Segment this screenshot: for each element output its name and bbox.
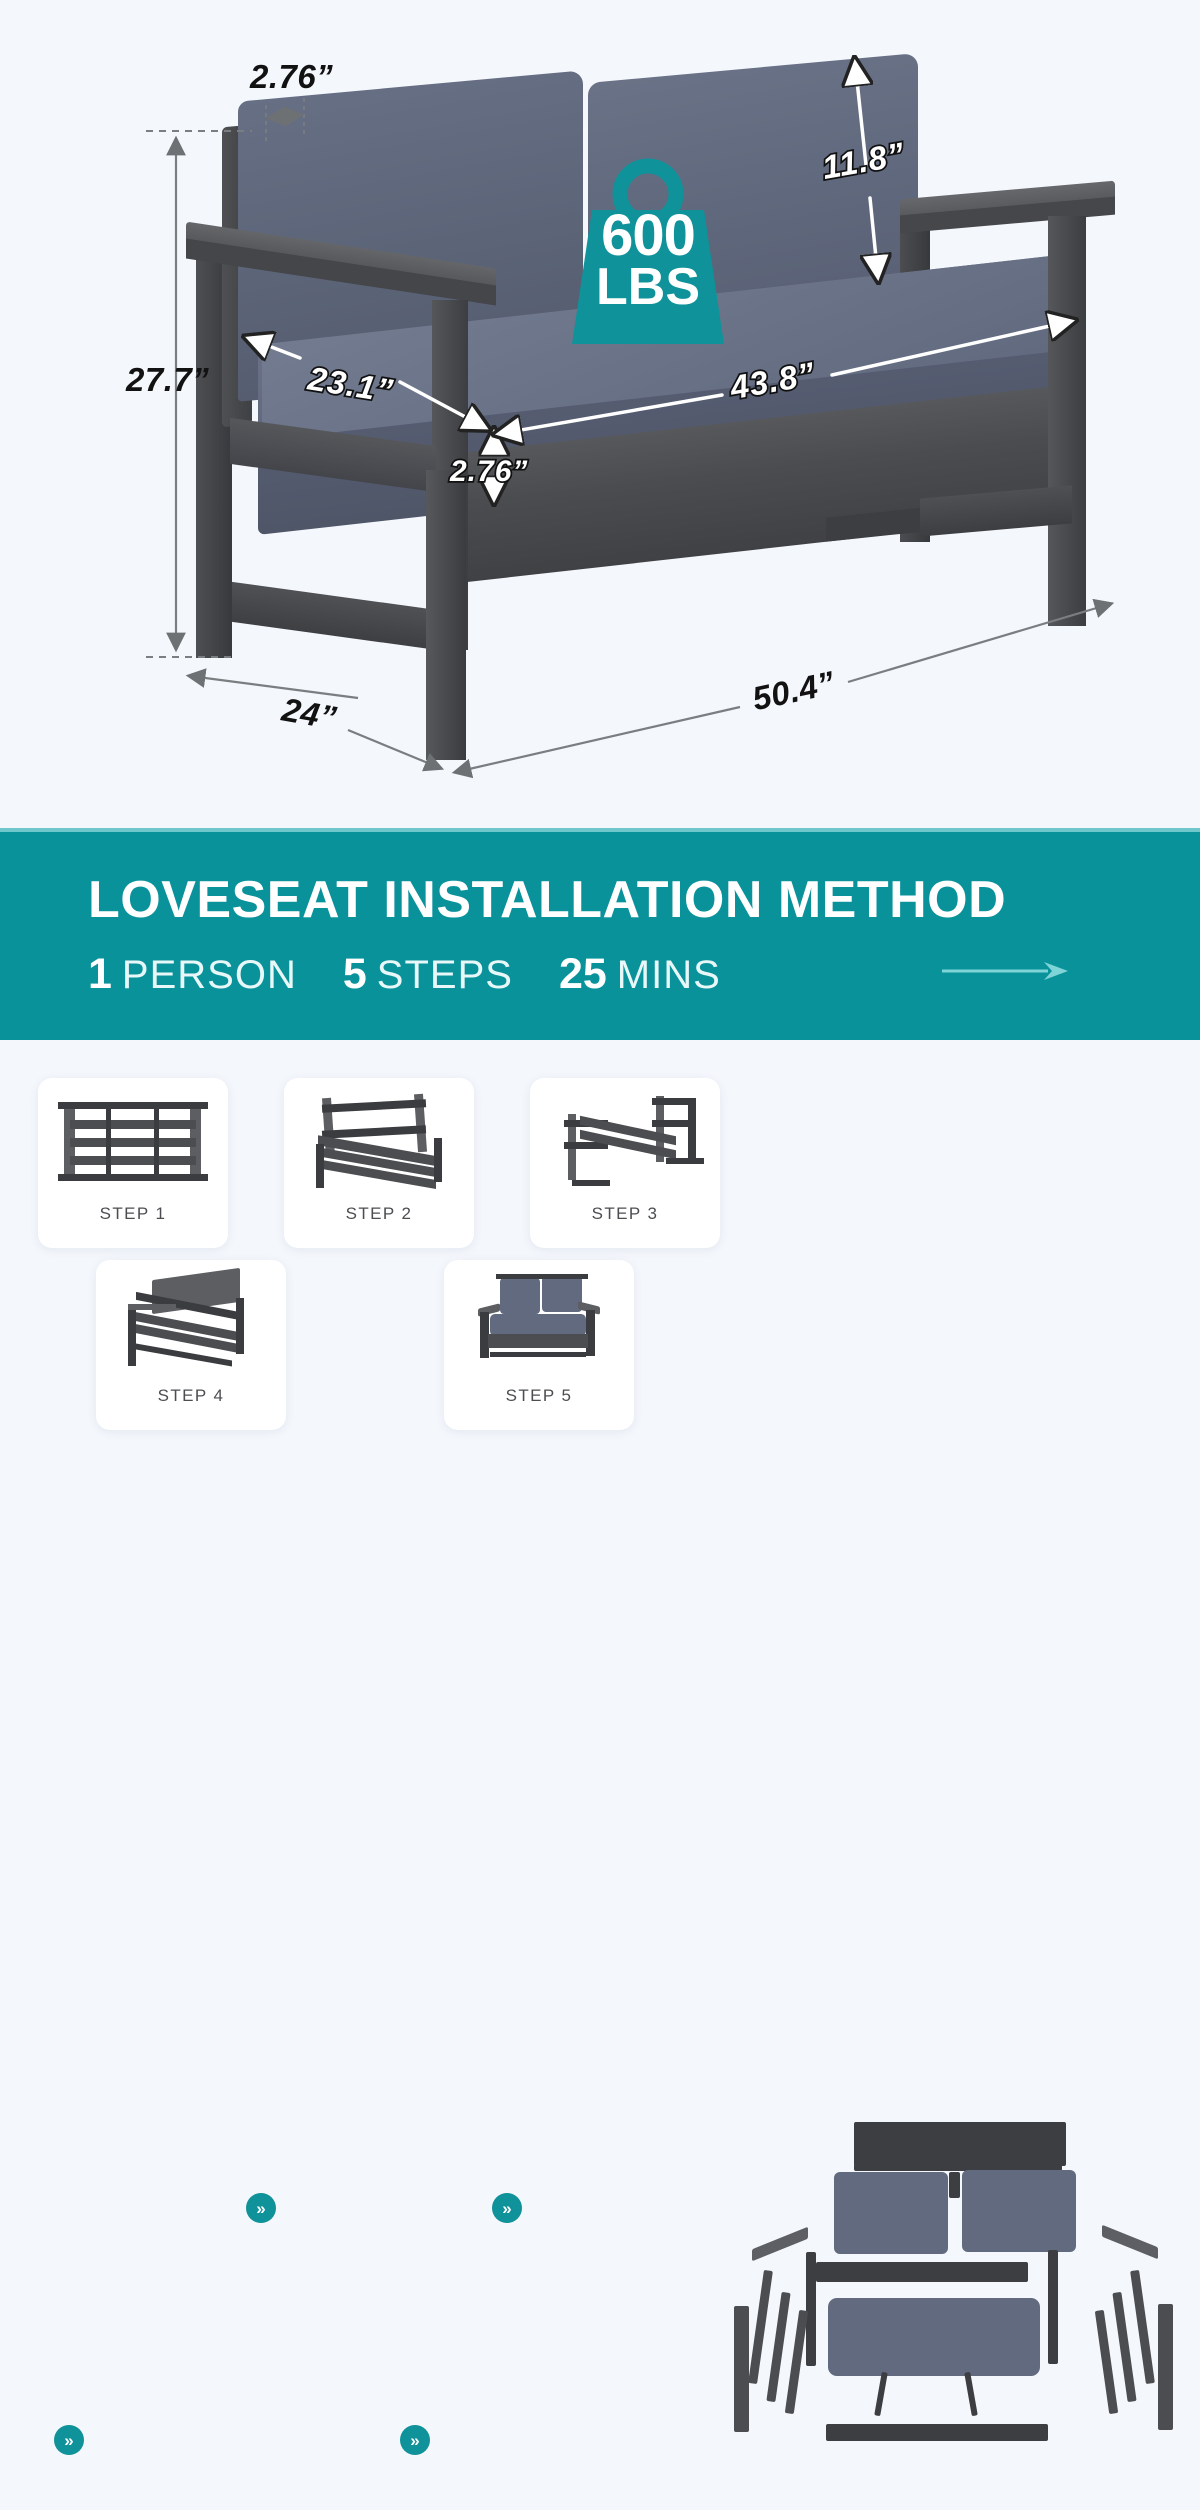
weight-badge-text: 600 LBS <box>548 208 748 312</box>
part-back-panel <box>854 2122 1066 2166</box>
sofa-left-bottom-rail <box>232 582 438 650</box>
part-rail-left-c <box>785 2310 808 2414</box>
step-3-label: STEP 3 <box>592 1204 659 1224</box>
part-bracket-left <box>874 2372 888 2416</box>
step-4-label: STEP 4 <box>158 1386 225 1406</box>
part-armrest-left <box>752 2227 808 2262</box>
double-chevron-right-icon: » <box>256 2200 265 2217</box>
installation-steps-section: STEP 1 » STEP 2 » <box>0 1040 1200 1500</box>
stat-person: 1 PERSON <box>88 950 297 999</box>
part-leg-back-right <box>1158 2304 1173 2430</box>
step-5-label: STEP 5 <box>506 1386 573 1406</box>
part-bottom-rail <box>826 2424 1048 2441</box>
step-connector-4-to-5: » <box>400 2425 430 2455</box>
part-rail-right-a <box>1130 2270 1155 2384</box>
dimension-label-seat-cushion-thickness: 2.76” <box>450 455 528 489</box>
step-2-label: STEP 2 <box>346 1204 413 1224</box>
stat-person-number: 1 <box>88 950 112 999</box>
part-rail-left-a <box>748 2270 773 2384</box>
stat-person-word: PERSON <box>122 953 297 998</box>
step-card-1[interactable]: STEP 1 <box>38 1078 228 1248</box>
part-seat-cushion <box>828 2298 1040 2376</box>
long-right-arrow-icon <box>940 956 1070 986</box>
dimension-diagram-section: 2.76” 27.7” 11.8” 23.1” 2.76” 43.8” 24” … <box>0 0 1200 828</box>
part-front-rail <box>816 2262 1028 2282</box>
weight-badge-unit: LBS <box>548 263 748 312</box>
step-card-5[interactable]: STEP 5 <box>444 1260 634 1430</box>
part-back-cushion-left <box>834 2172 948 2254</box>
part-leg-back-left <box>734 2306 749 2432</box>
dimension-label-back-cushion-thickness-top: 2.76” <box>250 58 333 96</box>
step-connector-1-to-2: » <box>246 2193 276 2223</box>
step-connector-2-to-3: » <box>492 2193 522 2223</box>
stat-mins: 25 MINS <box>559 950 721 999</box>
double-chevron-right-icon: » <box>64 2432 73 2449</box>
stat-mins-word: MINS <box>617 953 721 998</box>
step-card-3[interactable]: STEP 3 <box>530 1078 720 1248</box>
part-bracket-right <box>964 2372 978 2416</box>
stat-steps: 5 STEPS <box>343 950 513 999</box>
sofa-front-left-leg <box>426 470 466 760</box>
dimension-label-overall-width: 50.4” <box>749 664 838 718</box>
stat-steps-word: STEPS <box>377 953 513 998</box>
step-3-thumbnail <box>540 1084 710 1202</box>
part-rail-left-b <box>766 2292 790 2402</box>
part-rail-right-b <box>1112 2292 1136 2402</box>
weight-badge-number: 600 <box>548 208 748 263</box>
double-chevron-right-icon: » <box>410 2432 419 2449</box>
part-center-bracket <box>949 2172 960 2198</box>
dimension-label-overall-depth: 24” <box>279 691 339 738</box>
step-connector-3-to-4: » <box>54 2425 84 2455</box>
installation-method-banner: LOVESEAT INSTALLATION METHOD 1 PERSON 5 … <box>0 828 1200 1040</box>
step-5-thumbnail <box>454 1266 624 1384</box>
sofa-front-right-leg <box>1048 216 1086 626</box>
step-2-thumbnail <box>294 1084 464 1202</box>
part-post-left <box>806 2252 816 2366</box>
step-4-thumbnail <box>106 1266 276 1384</box>
banner-stats-row: 1 PERSON 5 STEPS 25 MINS <box>88 950 721 999</box>
exploded-parts-diagram <box>730 2110 1180 2510</box>
stat-mins-number: 25 <box>559 950 607 999</box>
weight-capacity-badge: 600 LBS <box>548 148 748 348</box>
part-rail-right-c <box>1095 2310 1118 2414</box>
step-1-thumbnail <box>48 1084 218 1202</box>
step-1-label: STEP 1 <box>100 1204 167 1224</box>
stat-steps-number: 5 <box>343 950 367 999</box>
part-post-right <box>1048 2250 1058 2364</box>
step-card-4[interactable]: STEP 4 <box>96 1260 286 1430</box>
part-back-cushion-right <box>962 2170 1076 2252</box>
double-chevron-right-icon: » <box>502 2200 511 2217</box>
step-card-2[interactable]: STEP 2 <box>284 1078 474 1248</box>
dimension-label-overall-height: 27.7” <box>126 361 209 399</box>
part-armrest-right <box>1102 2225 1158 2260</box>
banner-title: LOVESEAT INSTALLATION METHOD <box>88 870 1006 930</box>
